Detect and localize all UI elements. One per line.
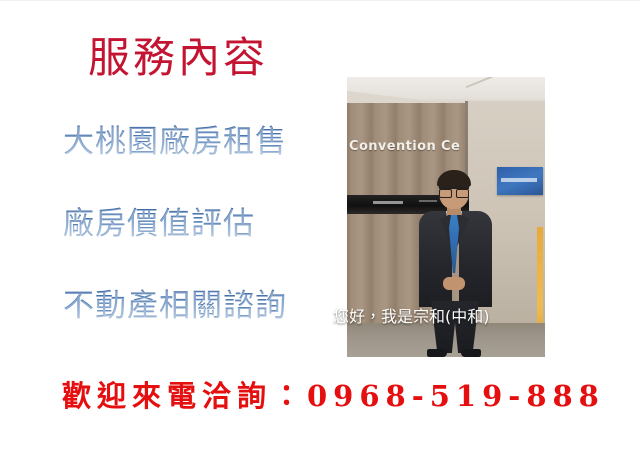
service-item-1: 大桃園廠房租售 xyxy=(63,125,333,159)
service-item-2: 廠房價值評估 xyxy=(63,207,333,241)
blue-sign-lettering xyxy=(501,178,537,182)
shoe-right xyxy=(461,349,481,357)
shoe-left xyxy=(427,349,447,357)
person-figure xyxy=(407,173,503,357)
eyeglasses-icon xyxy=(439,187,469,194)
photo-caption: 您好，我是宗和(中和) xyxy=(333,307,490,326)
contact-phone-line: 歡迎來電洽詢：0968-519-888 xyxy=(62,373,605,415)
page-title: 服務內容 xyxy=(88,34,268,82)
slide-canvas: 服務內容 大桃園廠房租售 廠房價值評估 不動產相關諮詢 Convention C… xyxy=(0,0,640,451)
blue-sign-plaque xyxy=(497,167,543,195)
clasped-hands xyxy=(443,277,465,290)
glass-highlight-1 xyxy=(373,201,403,204)
service-item-3: 不動產相關諮詢 xyxy=(63,289,333,323)
service-list: 大桃園廠房租售 廠房價值評估 不動產相關諮詢 xyxy=(63,125,333,323)
wall-sign-text: Convention Ce xyxy=(349,139,460,154)
